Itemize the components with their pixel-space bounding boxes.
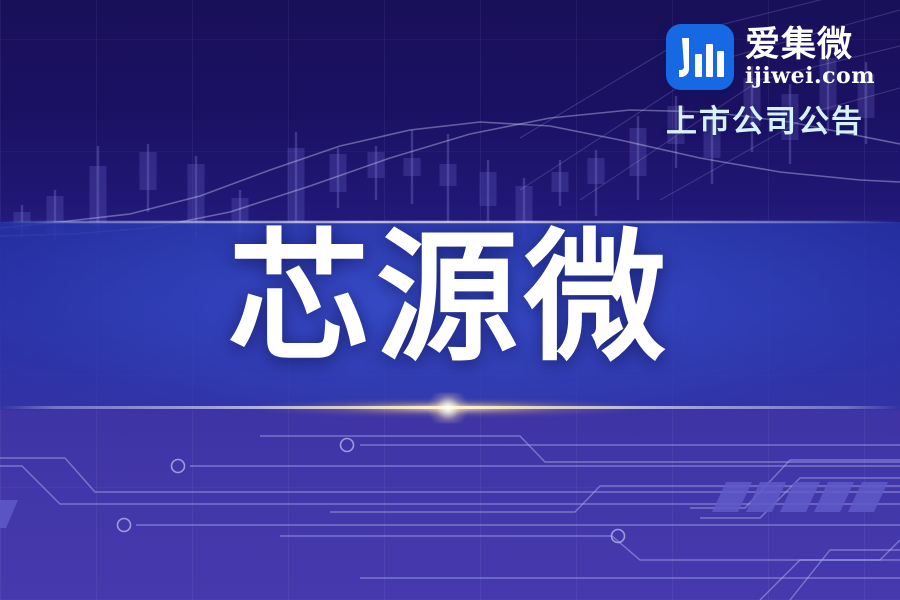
brand-url: ijiwei.com [745,64,875,89]
chip-bars [0,482,888,528]
candle-body [140,152,157,190]
brand-row: 爱集微 ijiwei.com [666,22,876,92]
circuit-traces-decoration [0,400,900,600]
brand-name-cn: 爱集微 [745,26,875,64]
candle-body [440,164,457,186]
candle-body [404,158,421,176]
candle-body [480,172,497,206]
bar-chart-j-logo-icon [666,24,734,90]
candle-body [330,154,347,192]
brand-text: 爱集微 ijiwei.com [745,26,875,89]
circuit-nodes [118,439,625,543]
banner-root: 芯源微 [0,0,900,600]
brand-subtitle: 上市公司公告 [666,104,876,140]
page-title: 芯源微 [0,228,900,370]
brand-block: 爱集微 ijiwei.com 上市公司公告 [666,22,876,140]
